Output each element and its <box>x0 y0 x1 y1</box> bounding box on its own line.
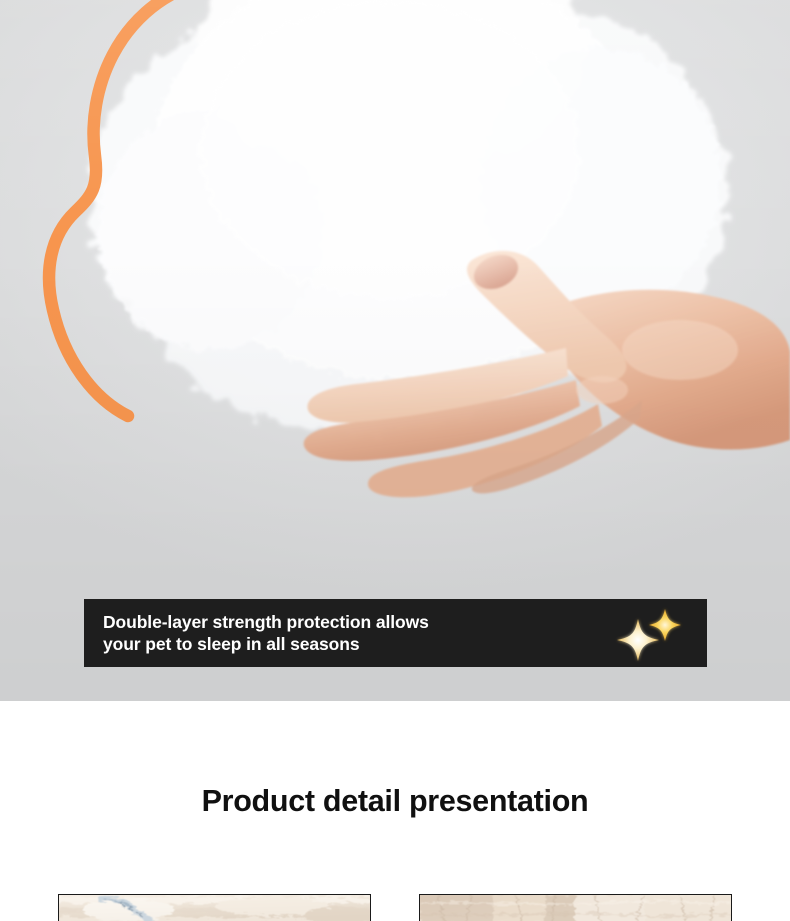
feature-banner-line-1: Double-layer strength protection allows <box>103 611 613 633</box>
product-detail-page: Double-layer strength protection allows … <box>0 0 790 921</box>
section-title: Product detail presentation <box>0 784 790 818</box>
feature-banner-line-2: your pet to sleep in all seasons <box>103 633 613 655</box>
feature-banner: Double-layer strength protection allows … <box>84 599 707 667</box>
product-detail-section: Product detail presentation <box>0 701 790 921</box>
hero-product-photo: Double-layer strength protection allows … <box>0 0 790 701</box>
thumbnail-fleece-fabric-folded[interactable] <box>419 894 732 921</box>
thumbnail-fleece-fabric-with-trim[interactable] <box>58 894 371 921</box>
feature-banner-text: Double-layer strength protection allows … <box>103 611 613 655</box>
sparkle-icon <box>613 603 687 663</box>
hero-vignette <box>0 0 790 701</box>
thumbnail-row <box>0 894 790 921</box>
